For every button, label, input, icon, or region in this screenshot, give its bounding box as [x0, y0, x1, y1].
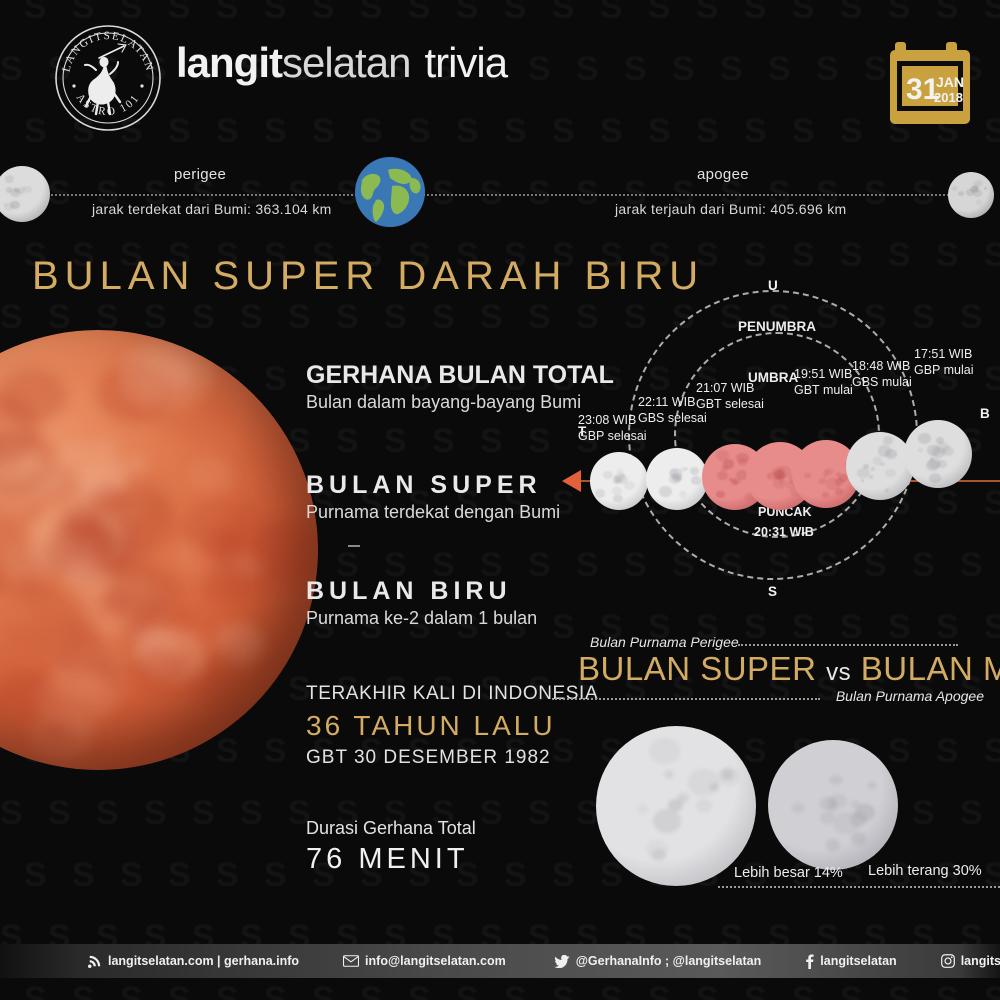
footer-item-instagram[interactable]: langitselatanmedia: [941, 954, 1000, 968]
phase-label-2308: 23:08 WIB GBP selesai: [578, 412, 647, 444]
phase-event: GBT mulai: [794, 383, 853, 397]
phase-label-1848: 18:48 WIB GBS mulai: [852, 358, 912, 390]
caption-bright: Lebih terang 30%: [868, 863, 982, 879]
footer-item-rss[interactable]: langitselatan.com | gerhana.info: [88, 954, 299, 968]
header: LANGITSELATAN ASTRO 101: [0, 0, 1000, 148]
brand-part-selatan: selatan: [282, 39, 410, 86]
footer-items: langitselatan.com | gerhana.infoinfo@lan…: [88, 944, 1000, 978]
apogee-moon-icon: [948, 172, 994, 218]
orbit-dotted-line: [44, 194, 956, 196]
phase-label-1751: 17:51 WIB GBP mulai: [914, 346, 974, 378]
compare-bottom-rule: [552, 698, 820, 700]
caption-size: Lebih besar 14%: [734, 865, 843, 881]
footer-item-envelope[interactable]: info@langitselatan.com: [343, 954, 506, 968]
calendar-year: 2018: [934, 90, 963, 105]
orbit-distance-row: [0, 150, 1000, 242]
phase-label-1951: 19:51 WIB GBT mulai: [794, 366, 853, 398]
section-divider-dash: [348, 545, 360, 547]
super-vs-mini-section: Bulan Purnama Perigee BULAN SUPER vs BUL…: [556, 630, 1000, 900]
phase-time: 21:07 WIB: [696, 381, 754, 395]
supermoon-disc: [596, 726, 756, 886]
minimoon-disc: [768, 740, 898, 870]
twitter-icon: [554, 955, 570, 968]
footer-contact-bar: langitselatan.com | gerhana.infoinfo@lan…: [0, 944, 1000, 978]
compass-south: S: [768, 584, 777, 599]
footer-item-text: @GerhanaInfo ; @langitselatan: [576, 954, 762, 968]
durasi-block: Durasi Gerhana Total 76 MENIT: [306, 818, 476, 876]
compare-title-left: BULAN SUPER: [578, 650, 816, 687]
durasi-value: 76 MENIT: [306, 843, 476, 876]
terakhir-line3: GBT 30 DESEMBER 1982: [306, 747, 598, 769]
feature-sub: Purnama terdekat dengan Bumi: [306, 502, 560, 523]
facebook-icon: [805, 954, 814, 969]
phase-time: 17:51 WIB: [914, 347, 972, 361]
terakhir-kali-block: TERAKHIR KALI DI INDONESIA 36 TAHUN LALU…: [306, 683, 598, 769]
calendar-icon: 31 JAN 2018: [888, 36, 972, 128]
blood-moon-image: [0, 330, 318, 770]
brand-part-trivia: trivia: [424, 39, 507, 86]
eclipse-moon-1848: [846, 432, 914, 500]
brand-part-langit: langit: [176, 39, 282, 86]
phase-time: 19:51 WIB: [794, 367, 852, 381]
feature-bulan-super: BULAN SUPER Purnama terdekat dengan Bumi: [306, 472, 560, 523]
footer-item-text: info@langitselatan.com: [365, 954, 506, 968]
peak-time: 20:31 WIB: [754, 524, 814, 540]
perigee-moon-icon: [0, 166, 50, 222]
envelope-icon: [343, 955, 359, 967]
langitselatan-logo-seal: LANGITSELATAN ASTRO 101: [52, 22, 164, 134]
footer-item-twitter[interactable]: @GerhanaInfo ; @langitselatan: [554, 954, 762, 968]
phase-event: GBP selesai: [578, 429, 647, 443]
feature-bulan-biru: BULAN BIRU Purnama ke-2 dalam 1 bulan: [306, 578, 537, 629]
brand-title: langitselatantrivia: [176, 42, 507, 84]
eclipse-moon-2211: [646, 448, 708, 510]
phase-time: 23:08 WIB: [578, 413, 636, 427]
svg-text:LANGITSELATAN: LANGITSELATAN: [60, 30, 155, 73]
instagram-icon: [941, 954, 955, 968]
compass-north: U: [768, 278, 778, 293]
footer-item-text: langitselatan: [820, 954, 896, 968]
compare-caption-rule: [718, 886, 1000, 888]
eclipse-moon-2308: [590, 452, 648, 510]
compare-title: BULAN SUPER vs BULAN MINI: [578, 650, 1000, 688]
phase-label-2107: 21:07 WIB GBT selesai: [696, 380, 764, 412]
footer-item-text: langitselatanmedia: [961, 954, 1000, 968]
phase-event: GBP mulai: [914, 363, 974, 377]
eclipse-path-diagram: U S T B PENUMBRA UMBRA PUNCAK 20:31 WIB …: [556, 272, 1000, 622]
compare-top-rule: [738, 644, 958, 646]
durasi-label: Durasi Gerhana Total: [306, 818, 476, 839]
calendar-month: JAN: [936, 74, 964, 90]
phase-time: 22:11 WIB: [638, 395, 695, 409]
penumbra-label: PENUMBRA: [738, 318, 816, 335]
phase-event: GBT selesai: [696, 397, 764, 411]
feature-sub: Purnama ke-2 dalam 1 bulan: [306, 608, 537, 629]
infographic-root: SSSSSSSSSSSSSSSSSSSSSSSSSSSSSSSSSSSSSSSS…: [0, 0, 1000, 1000]
phase-event: GBS selesai: [638, 411, 707, 425]
feature-heading: BULAN BIRU: [306, 578, 537, 604]
phase-time: 18:48 WIB: [852, 359, 910, 373]
compass-east: B: [980, 406, 990, 421]
compare-title-right: BULAN MINI: [861, 650, 1000, 687]
footer-item-text: langitselatan.com | gerhana.info: [108, 954, 299, 968]
eclipse-moon-1751: [904, 420, 972, 488]
rss-icon: [88, 954, 102, 968]
phase-event: GBS mulai: [852, 375, 912, 389]
terakhir-line1: TERAKHIR KALI DI INDONESIA: [306, 683, 598, 705]
path-direction-arrow-icon: [562, 470, 581, 492]
compare-bottom-caption: Bulan Purnama Apogee: [836, 688, 984, 704]
compare-title-vs: vs: [826, 659, 851, 686]
earth-icon: [352, 154, 428, 230]
compare-top-caption: Bulan Purnama Perigee: [590, 634, 739, 650]
footer-item-facebook[interactable]: langitselatan: [805, 954, 896, 969]
terakhir-line2: 36 TAHUN LALU: [306, 710, 598, 742]
feature-heading: BULAN SUPER: [306, 472, 560, 498]
